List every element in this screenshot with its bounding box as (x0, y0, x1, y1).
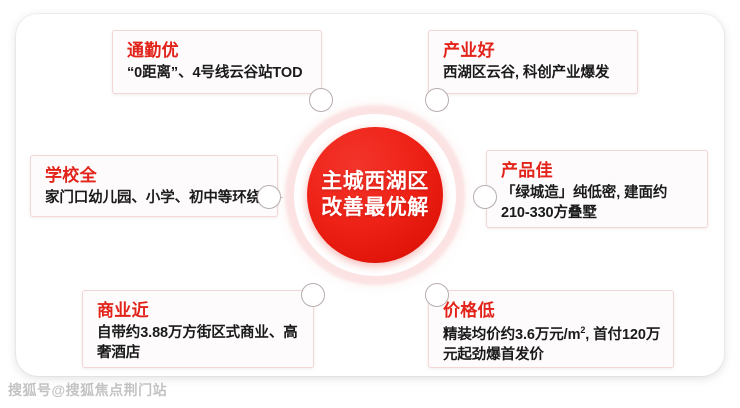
connector-node-industry (425, 88, 449, 112)
connector-node-business (301, 283, 325, 307)
connector-node-commute (309, 88, 333, 112)
center-hub-line-2: 改善最优解 (321, 195, 429, 221)
connector-node-school (257, 185, 281, 209)
info-card-commute-desc: “0距离”、4号线云谷站TOD (127, 64, 309, 84)
info-card-business-title: 商业近 (97, 300, 301, 321)
info-card-industry[interactable]: 产业好 西湖区云谷, 科创产业爆发 (428, 30, 638, 94)
info-card-price-desc-pre: 精装均价约3.6万元/m (443, 327, 580, 343)
watermark-text: 搜狐号@搜狐焦点荆门站 (8, 380, 167, 400)
info-card-industry-desc: 西湖区云谷, 科创产业爆发 (443, 64, 625, 84)
center-hub-circle: 主城西湖区 改善最优解 (307, 127, 443, 263)
info-card-product-desc: 「绿城造」纯低密, 建面约210-330方叠墅 (501, 184, 695, 223)
info-card-business[interactable]: 商业近 自带约3.88万方街区式商业、高奢酒店 (82, 290, 314, 368)
center-hub: 主城西湖区 改善最优解 (285, 105, 465, 285)
connector-node-price (425, 283, 449, 307)
center-hub-line-1: 主城西湖区 (321, 169, 429, 195)
info-card-price[interactable]: 价格低 精装均价约3.6万元/m2, 首付120万元起劲爆首发价 (428, 290, 674, 368)
info-card-school-desc: 家门口幼儿园、小学、初中等环绕 (45, 189, 265, 209)
info-card-business-desc: 自带约3.88万方街区式商业、高奢酒店 (97, 324, 301, 363)
infographic-canvas: 主城西湖区 改善最优解 通勤优 “0距离”、4号线云谷站TOD 产业好 西湖区云… (0, 0, 740, 408)
info-card-price-desc: 精装均价约3.6万元/m2, 首付120万元起劲爆首发价 (443, 324, 661, 365)
info-card-commute-title: 通勤优 (127, 40, 309, 61)
info-card-industry-title: 产业好 (443, 40, 625, 61)
info-card-product-title: 产品佳 (501, 160, 695, 181)
info-card-school[interactable]: 学校全 家门口幼儿园、小学、初中等环绕 (30, 155, 278, 217)
info-card-product[interactable]: 产品佳 「绿城造」纯低密, 建面约210-330方叠墅 (486, 150, 708, 228)
info-card-school-title: 学校全 (45, 165, 265, 186)
info-card-price-title: 价格低 (443, 300, 661, 321)
info-card-commute[interactable]: 通勤优 “0距离”、4号线云谷站TOD (112, 30, 322, 94)
connector-node-product (473, 185, 497, 209)
